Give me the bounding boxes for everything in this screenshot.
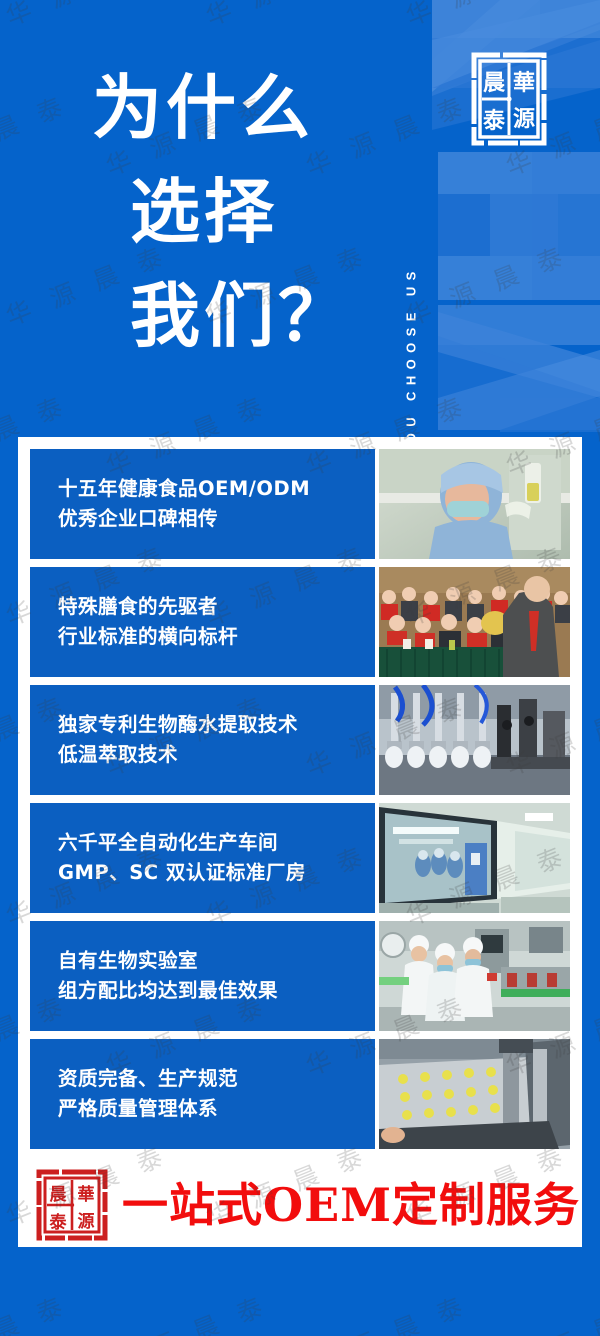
feature-card-line-2: GMP、SC 双认证标准厂房: [58, 858, 375, 888]
feature-card[interactable]: 特殊膳食的先驱者 行业标准的横向标杆: [30, 567, 570, 677]
feature-card-line-1: 特殊膳食的先驱者: [58, 592, 375, 622]
headline-line-3: 我们？: [92, 264, 392, 368]
feature-card-text: 自有生物实验室 组方配比均达到最佳效果: [30, 921, 375, 1031]
company-seal-icon: 華 源 晨 泰: [36, 1169, 108, 1241]
feature-card-text: 独家专利生物酶水提取技术 低温萃取技术: [30, 685, 375, 795]
feature-card-line-1: 独家专利生物酶水提取技术: [58, 710, 375, 740]
feature-card[interactable]: 独家专利生物酶水提取技术 低温萃取技术: [30, 685, 570, 795]
feature-card-text: 特殊膳食的先驱者 行业标准的横向标杆: [30, 567, 375, 677]
banner-slogan: 一站式OEM定制服务: [122, 1177, 580, 1233]
svg-text:泰: 泰: [50, 1212, 68, 1233]
vertical-english-subtitle: DID YOU CHOOSE US: [398, 40, 424, 395]
feature-card[interactable]: 自有生物实验室 组方配比均达到最佳效果: [30, 921, 570, 1031]
header-section: 为什么 选择 我们？ DID YOU CHOOSE US 華 源 晨 泰: [0, 0, 600, 440]
headline-line-2: 选择: [92, 160, 392, 264]
photo-workers-inspecting: [379, 921, 570, 1031]
feature-card-line-2: 严格质量管理体系: [58, 1094, 375, 1124]
watermark-text: 华 源 晨 泰: [0, 1285, 74, 1336]
feature-card-line-2: 优秀企业口碑相传: [58, 504, 375, 534]
feature-cards-container: 十五年健康食品OEM/ODM 优秀企业口碑相传: [18, 437, 582, 1163]
watermark-text: 华 源 晨 泰: [100, 1285, 274, 1336]
feature-card-line-2: 行业标准的横向标杆: [58, 622, 375, 652]
page-title: 为什么 选择 我们？: [92, 56, 392, 368]
feature-card[interactable]: 十五年健康食品OEM/ODM 优秀企业口碑相传: [30, 449, 570, 559]
feature-card-line-1: 资质完备、生产规范: [58, 1064, 375, 1094]
svg-text:華: 華: [513, 70, 535, 96]
photo-lab-technician: [379, 449, 570, 559]
svg-text:源: 源: [78, 1211, 95, 1232]
watermark-text: 华 源 晨 泰: [300, 1285, 474, 1336]
company-seal-icon: 華 源 晨 泰: [470, 50, 548, 148]
svg-text:晨: 晨: [483, 70, 506, 96]
feature-card-text: 资质完备、生产规范 严格质量管理体系: [30, 1039, 375, 1149]
feature-card-line-2: 低温萃取技术: [58, 740, 375, 770]
feature-card-line-1: 十五年健康食品OEM/ODM: [58, 474, 375, 504]
feature-card[interactable]: 六千平全自动化生产车间 GMP、SC 双认证标准厂房: [30, 803, 570, 913]
bottom-banner: 華 源 晨 泰 一站式OEM定制服务: [18, 1163, 582, 1247]
photo-conference-audience: [379, 567, 570, 677]
feature-card-line-1: 六千平全自动化生产车间: [58, 828, 375, 858]
svg-text:晨: 晨: [50, 1185, 68, 1205]
photo-cleanroom-corridor: [379, 803, 570, 913]
feature-card-text: 六千平全自动化生产车间 GMP、SC 双认证标准厂房: [30, 803, 375, 913]
svg-text:華: 華: [78, 1185, 95, 1205]
feature-card[interactable]: 资质完备、生产规范 严格质量管理体系: [30, 1039, 570, 1149]
feature-card-line-2: 组方配比均达到最佳效果: [58, 976, 375, 1006]
svg-text:泰: 泰: [482, 108, 506, 134]
feature-card-text: 十五年健康食品OEM/ODM 优秀企业口碑相传: [30, 449, 375, 559]
feature-card-line-1: 自有生物实验室: [58, 946, 375, 976]
watermark-text: 华 源 晨 泰: [500, 1285, 600, 1336]
headline-line-1: 为什么: [92, 56, 392, 160]
photo-filling-machine: [379, 685, 570, 795]
poster-root: 为什么 选择 我们？ DID YOU CHOOSE US 華 源 晨 泰: [0, 0, 600, 1336]
photo-tablet-packaging: [379, 1039, 570, 1149]
svg-text:源: 源: [513, 106, 535, 132]
